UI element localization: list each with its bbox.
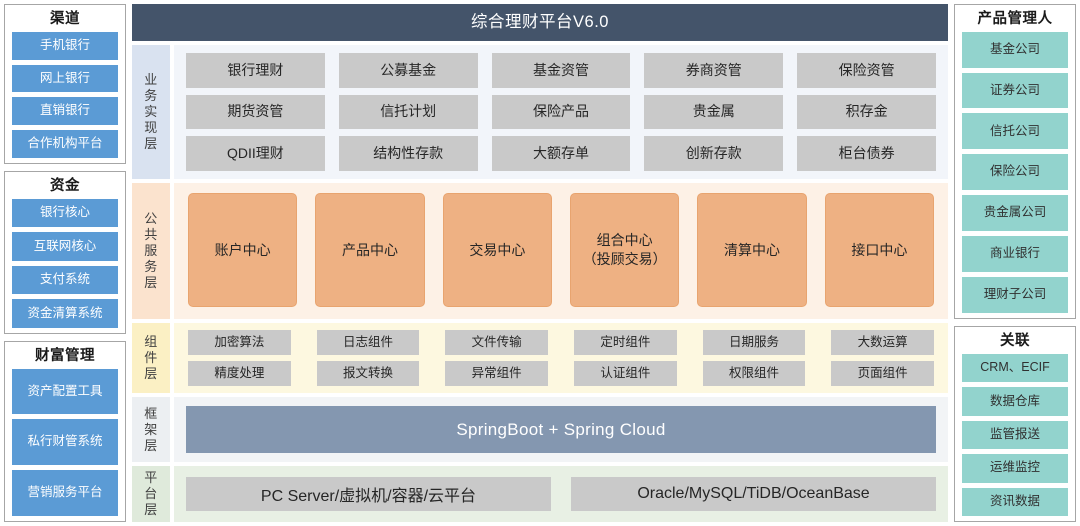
layer-component: 组件层 加密算法 日志组件 文件传输 定时组件 日期服务 大数运算 精度处理 报…	[132, 323, 948, 393]
sidebar-item-data-warehouse[interactable]: 数据仓库	[962, 387, 1068, 415]
biz-cell-fund-asset-mgmt[interactable]: 基金资管	[492, 53, 631, 88]
layer-stack: 业务实现层 银行理财 公募基金 基金资管 券商资管 保险资管 期货资管 信托计划…	[132, 45, 948, 522]
business-grid: 银行理财 公募基金 基金资管 券商资管 保险资管 期货资管 信托计划 保险产品 …	[174, 45, 948, 179]
svc-cell-trading-center[interactable]: 交易中心	[443, 193, 552, 307]
layer-platform: 平台层 PC Server/虚拟机/容器/云平台 Oracle/MySQL/Ti…	[132, 466, 948, 522]
sidebar-item-private-banking-system[interactable]: 私行财管系统	[12, 419, 118, 465]
sidebar-item-fund-clearing-system[interactable]: 资金清算系统	[12, 299, 118, 328]
layer-label-text: 业务实现层	[144, 72, 159, 151]
cmp-cell-message-conversion[interactable]: 报文转换	[317, 361, 420, 386]
cmp-cell-permission-component[interactable]: 权限组件	[703, 361, 806, 386]
panel-items: 资产配置工具 私行财管系统 营销服务平台	[12, 369, 118, 516]
sidebar-panel-channel: 渠道 手机银行 网上银行 直销银行 合作机构平台	[4, 4, 126, 164]
sidebar-item-securities-company[interactable]: 证券公司	[962, 73, 1068, 109]
layer-label-text: 组件层	[144, 334, 159, 382]
layer-label-component: 组件层	[132, 323, 170, 393]
svc-cell-account-center[interactable]: 账户中心	[188, 193, 297, 307]
layer-label-platform: 平台层	[132, 466, 170, 522]
biz-cell-insurance-asset-mgmt[interactable]: 保险资管	[797, 53, 936, 88]
sidebar-panel-wealth-management: 财富管理 资产配置工具 私行财管系统 营销服务平台	[4, 341, 126, 522]
cmp-cell-scheduler-component[interactable]: 定时组件	[574, 330, 677, 355]
sidebar-item-partner-platform[interactable]: 合作机构平台	[12, 130, 118, 158]
sidebar-item-ops-monitoring[interactable]: 运维监控	[962, 454, 1068, 482]
left-sidebar: 渠道 手机银行 网上银行 直销银行 合作机构平台 资金 银行核心 互联网核心 支…	[4, 4, 126, 522]
layer-label-public-service: 公共服务层	[132, 183, 170, 319]
sidebar-item-regulatory-reporting[interactable]: 监管报送	[962, 421, 1068, 449]
panel-items: 基金公司 证券公司 信托公司 保险公司 贵金属公司 商业银行 理财子公司	[962, 32, 1068, 313]
svc-cell-interface-center[interactable]: 接口中心	[825, 193, 934, 307]
panel-items: 银行核心 互联网核心 支付系统 资金清算系统	[12, 199, 118, 328]
biz-cell-gold-accumulation[interactable]: 积存金	[797, 95, 936, 130]
biz-cell-public-fund[interactable]: 公募基金	[339, 53, 478, 88]
component-grid: 加密算法 日志组件 文件传输 定时组件 日期服务 大数运算 精度处理 报文转换 …	[174, 323, 948, 393]
cmp-cell-log-component[interactable]: 日志组件	[317, 330, 420, 355]
layer-body-platform: PC Server/虚拟机/容器/云平台 Oracle/MySQL/TiDB/O…	[174, 466, 948, 522]
svc-cell-portfolio-center[interactable]: 组合中心 （投顾交易）	[570, 193, 679, 307]
sidebar-item-insurance-company[interactable]: 保险公司	[962, 154, 1068, 190]
cmp-cell-page-component[interactable]: 页面组件	[831, 361, 934, 386]
sidebar-item-precious-metal-company[interactable]: 贵金属公司	[962, 195, 1068, 231]
biz-cell-structured-deposit[interactable]: 结构性存款	[339, 136, 478, 171]
sidebar-item-online-bank[interactable]: 网上银行	[12, 65, 118, 93]
panel-items: 手机银行 网上银行 直销银行 合作机构平台	[12, 32, 118, 158]
svc-cell-product-center[interactable]: 产品中心	[315, 193, 424, 307]
biz-cell-precious-metal[interactable]: 贵金属	[644, 95, 783, 130]
sidebar-item-payment-system[interactable]: 支付系统	[12, 266, 118, 295]
sidebar-item-marketing-service-platform[interactable]: 营销服务平台	[12, 470, 118, 516]
biz-cell-bank-wealth[interactable]: 银行理财	[186, 53, 325, 88]
cmp-cell-encryption-algorithm[interactable]: 加密算法	[188, 330, 291, 355]
framework-wrap: SpringBoot + Spring Cloud	[174, 397, 948, 462]
biz-cell-trust-plan[interactable]: 信托计划	[339, 95, 478, 130]
layer-label-framework: 框架层	[132, 397, 170, 462]
page-title: 综合理财平台V6.0	[132, 4, 948, 41]
platform-grid: PC Server/虚拟机/容器/云平台 Oracle/MySQL/TiDB/O…	[174, 466, 948, 522]
panel-title: 产品管理人	[962, 9, 1068, 32]
sidebar-panel-funds: 资金 银行核心 互联网核心 支付系统 资金清算系统	[4, 171, 126, 334]
layer-body-framework: SpringBoot + Spring Cloud	[174, 397, 948, 462]
layer-label-text: 平台层	[144, 470, 159, 518]
layer-business: 业务实现层 银行理财 公募基金 基金资管 券商资管 保险资管 期货资管 信托计划…	[132, 45, 948, 179]
panel-title: 关联	[962, 331, 1068, 354]
sidebar-item-wealth-subsidiary[interactable]: 理财子公司	[962, 277, 1068, 313]
sidebar-item-trust-company[interactable]: 信托公司	[962, 113, 1068, 149]
biz-cell-broker-asset-mgmt[interactable]: 券商资管	[644, 53, 783, 88]
panel-title: 财富管理	[12, 346, 118, 369]
service-grid: 账户中心 产品中心 交易中心 组合中心 （投顾交易） 清算中心 接口中心	[174, 183, 948, 319]
sidebar-panel-related: 关联 CRM、ECIF 数据仓库 监管报送 运维监控 资讯数据	[954, 326, 1076, 522]
main-column: 综合理财平台V6.0 业务实现层 银行理财 公募基金 基金资管 券商资管 保险资…	[132, 4, 948, 522]
sidebar-item-crm-ecif[interactable]: CRM、ECIF	[962, 354, 1068, 382]
cmp-cell-date-service[interactable]: 日期服务	[703, 330, 806, 355]
cmp-cell-file-transfer[interactable]: 文件传输	[445, 330, 548, 355]
biz-cell-futures-asset-mgmt[interactable]: 期货资管	[186, 95, 325, 130]
sidebar-item-bank-core[interactable]: 银行核心	[12, 199, 118, 228]
biz-cell-counter-bond[interactable]: 柜台债券	[797, 136, 936, 171]
sidebar-panel-product-manager: 产品管理人 基金公司 证券公司 信托公司 保险公司 贵金属公司 商业银行 理财子…	[954, 4, 1076, 319]
architecture-diagram: 渠道 手机银行 网上银行 直销银行 合作机构平台 资金 银行核心 互联网核心 支…	[0, 0, 1080, 526]
plat-cell-database[interactable]: Oracle/MySQL/TiDB/OceanBase	[571, 477, 936, 511]
layer-label-text: 公共服务层	[144, 211, 159, 290]
svc-cell-clearing-center[interactable]: 清算中心	[697, 193, 806, 307]
panel-items: CRM、ECIF 数据仓库 监管报送 运维监控 资讯数据	[962, 354, 1068, 516]
cmp-cell-exception-component[interactable]: 异常组件	[445, 361, 548, 386]
cmp-cell-authentication-component[interactable]: 认证组件	[574, 361, 677, 386]
biz-cell-large-certificate-deposit[interactable]: 大额存单	[492, 136, 631, 171]
layer-framework: 框架层 SpringBoot + Spring Cloud	[132, 397, 948, 462]
layer-label-business: 业务实现层	[132, 45, 170, 179]
layer-label-text: 框架层	[144, 406, 159, 454]
biz-cell-innovative-deposit[interactable]: 创新存款	[644, 136, 783, 171]
layer-body-business: 银行理财 公募基金 基金资管 券商资管 保险资管 期货资管 信托计划 保险产品 …	[174, 45, 948, 179]
plat-cell-compute[interactable]: PC Server/虚拟机/容器/云平台	[186, 477, 551, 511]
cmp-cell-bignum-arithmetic[interactable]: 大数运算	[831, 330, 934, 355]
panel-title: 渠道	[12, 9, 118, 32]
sidebar-item-fund-company[interactable]: 基金公司	[962, 32, 1068, 68]
biz-cell-qdii-wealth[interactable]: QDII理财	[186, 136, 325, 171]
layer-body-component: 加密算法 日志组件 文件传输 定时组件 日期服务 大数运算 精度处理 报文转换 …	[174, 323, 948, 393]
cmp-cell-precision-handling[interactable]: 精度处理	[188, 361, 291, 386]
sidebar-item-asset-allocation-tool[interactable]: 资产配置工具	[12, 369, 118, 415]
panel-title: 资金	[12, 176, 118, 199]
sidebar-item-mobile-bank[interactable]: 手机银行	[12, 32, 118, 60]
layer-body-public-service: 账户中心 产品中心 交易中心 组合中心 （投顾交易） 清算中心 接口中心	[174, 183, 948, 319]
layer-public-service: 公共服务层 账户中心 产品中心 交易中心 组合中心 （投顾交易） 清算中心 接口…	[132, 183, 948, 319]
right-sidebar: 产品管理人 基金公司 证券公司 信托公司 保险公司 贵金属公司 商业银行 理财子…	[954, 4, 1076, 522]
sidebar-item-market-data[interactable]: 资讯数据	[962, 488, 1068, 516]
biz-cell-insurance-product[interactable]: 保险产品	[492, 95, 631, 130]
sidebar-item-commercial-bank[interactable]: 商业银行	[962, 236, 1068, 272]
framework-bar-springboot[interactable]: SpringBoot + Spring Cloud	[186, 406, 936, 453]
sidebar-item-direct-bank[interactable]: 直销银行	[12, 97, 118, 125]
sidebar-item-internet-core[interactable]: 互联网核心	[12, 232, 118, 261]
